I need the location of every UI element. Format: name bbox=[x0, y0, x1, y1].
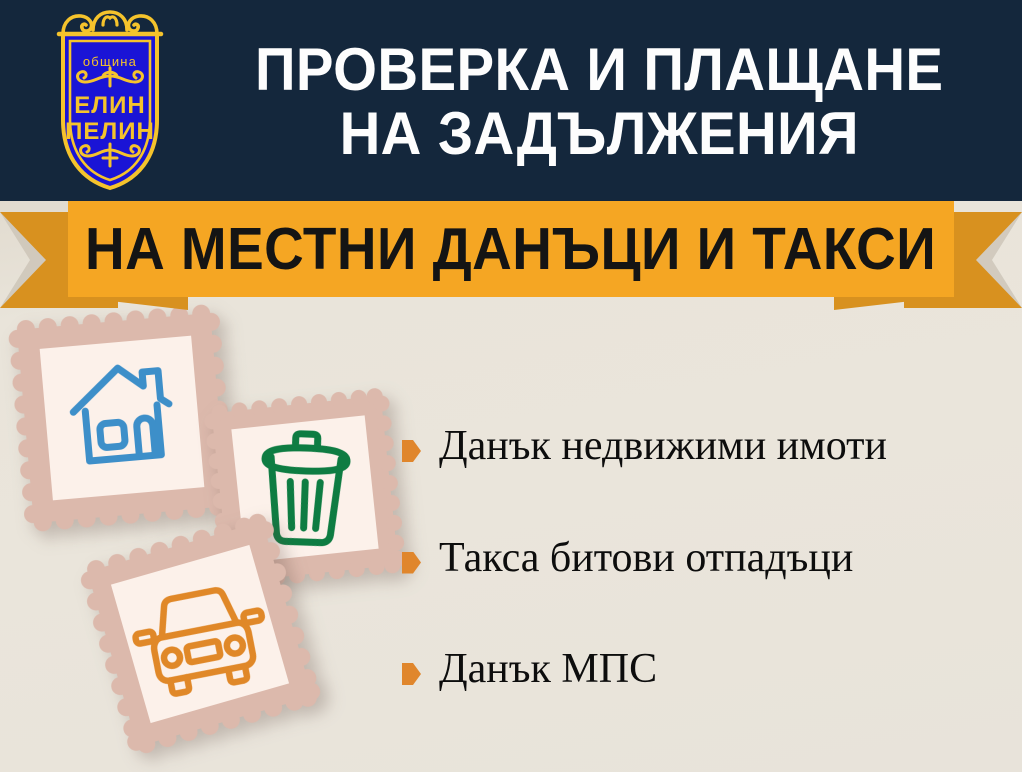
ribbon-label: НА МЕСТНИ ДАНЪЦИ И ТАКСИ bbox=[85, 215, 936, 283]
page-title-line-2: НА ЗАДЪЛЖЕНИЯ bbox=[339, 103, 858, 165]
list-item-label: Данък недвижими имоти bbox=[439, 424, 887, 469]
arrow-bullet-icon bbox=[402, 440, 421, 462]
coat-of-arms-icon: община ЕЛИН ПЕЛИН bbox=[41, 8, 179, 193]
page-title-line-1: ПРОВЕРКА И ПЛАЩАНЕ bbox=[255, 39, 943, 101]
list-item[interactable]: Такса битови отпадъци bbox=[402, 536, 1022, 581]
tax-type-list: Данък недвижими имоти Такса битови отпад… bbox=[402, 424, 1022, 692]
arrow-bullet-icon bbox=[402, 663, 421, 685]
list-item[interactable]: Данък МПС bbox=[402, 647, 1022, 692]
card-real-estate bbox=[7, 303, 237, 533]
list-item-label: Данък МПС bbox=[439, 647, 657, 692]
crest-text-line1: ЕЛИН bbox=[74, 92, 145, 119]
list-item[interactable]: Данък недвижими имоти bbox=[402, 424, 1022, 469]
page-title: ПРОВЕРКА И ПЛАЩАНЕ НА ЗАДЪЛЖЕНИЯ bbox=[186, 14, 1012, 189]
subtitle-ribbon: НА МЕСТНИ ДАНЪЦИ И ТАКСИ bbox=[0, 199, 1022, 309]
ribbon-banner: НА МЕСТНИ ДАНЪЦИ И ТАКСИ bbox=[68, 201, 954, 297]
header-bar: община ЕЛИН ПЕЛИН bbox=[0, 0, 1022, 201]
crest-text-line2: ПЕЛИН bbox=[65, 118, 155, 145]
trash-bin-icon bbox=[262, 433, 348, 544]
poster-canvas: община ЕЛИН ПЕЛИН bbox=[0, 0, 1022, 772]
list-item-label: Такса битови отпадъци bbox=[439, 536, 853, 581]
stamp-inner bbox=[40, 336, 205, 501]
arrow-bullet-icon bbox=[402, 552, 421, 574]
